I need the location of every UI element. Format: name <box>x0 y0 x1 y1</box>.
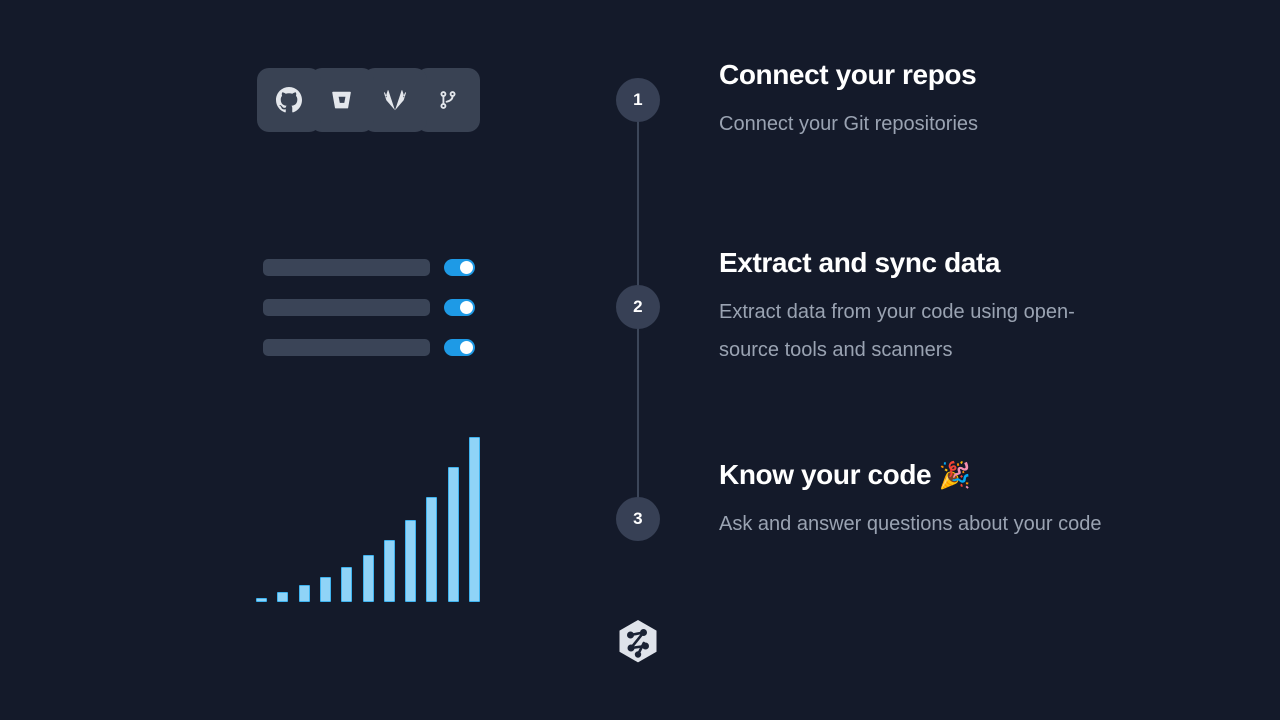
step-marker-3[interactable]: 3 <box>616 497 660 541</box>
toggle-row <box>263 338 475 356</box>
row-placeholder-bar <box>263 299 430 316</box>
step-title-emoji: 🎉 <box>939 460 971 490</box>
chart-bar <box>256 598 267 602</box>
step-title-1: Connect your repos <box>719 58 1139 92</box>
bitbucket-icon <box>331 89 353 111</box>
row-placeholder-bar <box>263 259 430 276</box>
chart-bar <box>405 520 416 602</box>
chart-bar <box>320 577 331 602</box>
step-item-1: Connect your repos Connect your Git repo… <box>719 58 1139 143</box>
chart-bar <box>363 555 374 602</box>
illustration-column <box>0 0 600 720</box>
step-item-2: Extract and sync data Extract data from … <box>719 246 1139 369</box>
toggle-switch-2[interactable] <box>444 299 475 316</box>
chart-bar <box>448 467 459 602</box>
provider-tile-github[interactable] <box>257 68 321 132</box>
step-title-text: Extract and sync data <box>719 247 1000 278</box>
toggle-knob <box>460 261 473 274</box>
git-branch-icon <box>437 89 459 111</box>
github-icon <box>276 87 302 113</box>
step-title-2: Extract and sync data <box>719 246 1139 280</box>
toggle-row <box>263 298 475 316</box>
step-title-text: Know your code <box>719 459 931 490</box>
chart-bar <box>426 497 437 602</box>
step-description-1: Connect your Git repositories <box>719 105 1119 143</box>
step-title-3: Know your code 🎉 <box>719 458 1139 492</box>
chart-bar <box>469 437 480 602</box>
chart-bar <box>384 540 395 602</box>
toggle-knob <box>460 301 473 314</box>
toggle-knob <box>460 341 473 354</box>
toggle-row <box>263 258 475 276</box>
step-title-text: Connect your repos <box>719 59 976 90</box>
steps-timeline: 1 2 3 <box>616 0 660 720</box>
onboarding-illustration: 1 2 3 <box>0 0 1280 720</box>
step-marker-2[interactable]: 2 <box>616 285 660 329</box>
gitlab-icon <box>383 88 407 112</box>
steps-text-column: Connect your repos Connect your Git repo… <box>719 0 1189 720</box>
chart-bar <box>299 585 310 602</box>
toggle-switch-1[interactable] <box>444 259 475 276</box>
row-placeholder-bar <box>263 339 430 356</box>
nodes-hexagon-logo <box>616 618 660 666</box>
chart-bar <box>341 567 352 602</box>
chart-bar <box>277 592 288 602</box>
settings-toggle-list <box>263 258 475 378</box>
step-description-2: Extract data from your code using open-s… <box>719 293 1119 369</box>
step-marker-1[interactable]: 1 <box>616 78 660 122</box>
growth-bar-chart <box>256 432 480 602</box>
step-description-3: Ask and answer questions about your code <box>719 505 1119 543</box>
step-item-3: Know your code 🎉 Ask and answer question… <box>719 458 1139 543</box>
toggle-switch-3[interactable] <box>444 339 475 356</box>
